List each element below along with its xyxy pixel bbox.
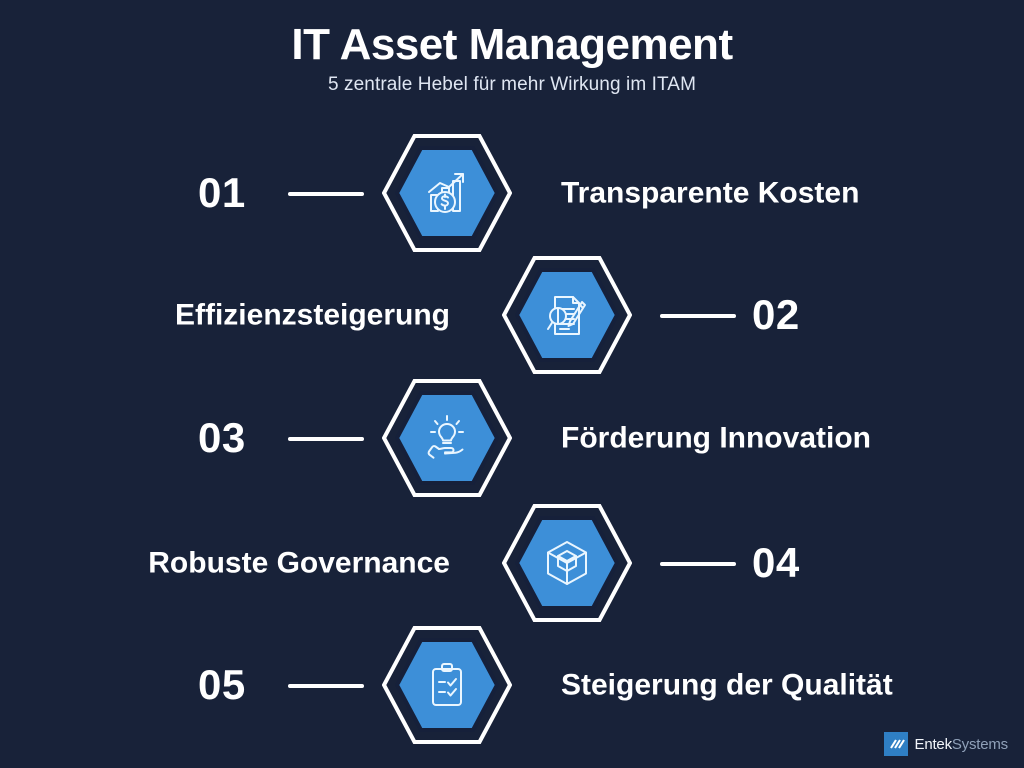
header: IT Asset Management 5 zentrale Hebel für… <box>0 0 1024 96</box>
hand-lightbulb-icon <box>421 412 473 464</box>
page-subtitle: 5 zentrale Hebel für mehr Wirkung im ITA… <box>0 74 1024 96</box>
item-label: Förderung Innovation <box>561 422 871 455</box>
item-label: Robuste Governance <box>148 547 450 580</box>
connector-line <box>660 562 736 566</box>
brand-logo[interactable]: EntekSystems <box>884 732 1008 756</box>
hexagon-badge[interactable] <box>377 625 517 745</box>
connector-line <box>660 314 736 318</box>
logo-text: EntekSystems <box>915 737 1008 752</box>
item-label: Effizienzsteigerung <box>175 299 450 332</box>
list-item: 01 Transparente Kosten <box>0 133 1024 253</box>
cube-box-icon <box>541 537 593 589</box>
list-item: 05 Steigerung der Qualität <box>0 625 1024 745</box>
list-item: 03 Förderung Innovation <box>0 378 1024 498</box>
item-label: Transparente Kosten <box>561 177 859 210</box>
item-label: Steigerung der Qualität <box>561 669 893 702</box>
hexagon-badge[interactable] <box>497 503 637 623</box>
item-number: 05 <box>198 664 246 706</box>
connector-line <box>288 437 364 441</box>
growth-chart-dollar-icon <box>421 167 473 219</box>
item-number: 01 <box>198 172 246 214</box>
page-title: IT Asset Management <box>0 22 1024 68</box>
list-item: Robuste Governance 04 <box>0 503 1024 623</box>
slashes-icon <box>884 732 908 756</box>
hexagon-badge[interactable] <box>377 378 517 498</box>
item-number: 02 <box>752 294 800 336</box>
logo-secondary-text: Systems <box>952 736 1008 753</box>
item-number: 03 <box>198 417 246 459</box>
document-magnifier-pen-icon <box>541 289 593 341</box>
connector-line <box>288 192 364 196</box>
clipboard-checklist-icon <box>421 659 473 711</box>
item-number: 04 <box>752 542 800 584</box>
logo-primary-text: Entek <box>915 736 952 753</box>
connector-line <box>288 684 364 688</box>
hexagon-badge[interactable] <box>377 133 517 253</box>
hexagon-badge[interactable] <box>497 255 637 375</box>
list-item: Effizienzsteigerung 02 <box>0 255 1024 375</box>
